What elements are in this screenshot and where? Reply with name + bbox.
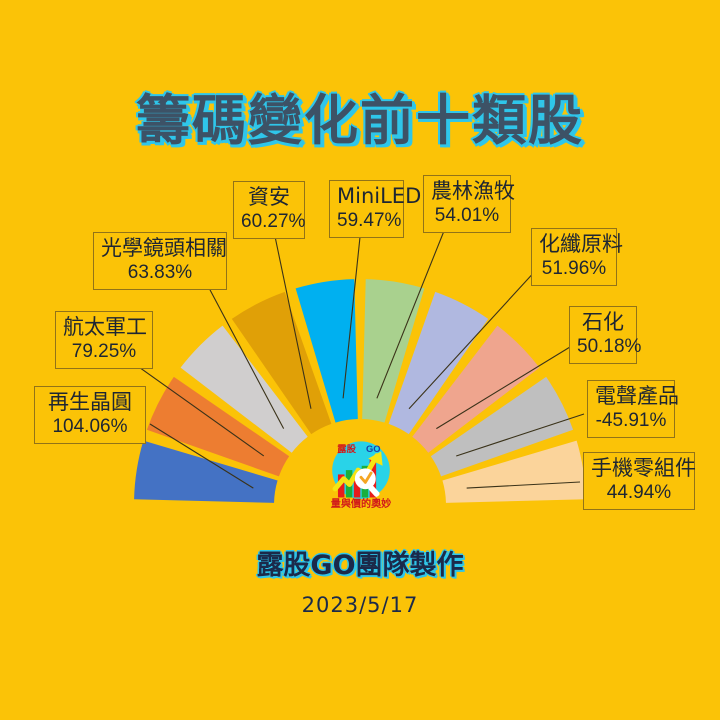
- callout-name-1: 航太軍工: [63, 315, 145, 340]
- callout-name-8: 電聲產品: [595, 384, 667, 409]
- logo-brand-cn: 露股: [337, 444, 356, 455]
- callout-value-2: 63.83%: [101, 262, 219, 284]
- callout-label-8[interactable]: 電聲產品 -45.91%: [587, 380, 675, 438]
- credit-text: 露股GO團隊製作: [0, 543, 720, 582]
- infographic-canvas: 籌碼變化前十類股 露股 GO 量與價的奧妙 再生晶圓 104.06% 航太軍工 …: [0, 0, 720, 720]
- callout-value-1: 79.25%: [63, 341, 145, 363]
- callout-label-6[interactable]: 化纖原料 51.96%: [531, 228, 617, 286]
- callout-value-3: 60.27%: [241, 211, 297, 233]
- callout-label-9[interactable]: 手機零組件 44.94%: [583, 452, 695, 510]
- brand-logo: 露股 GO 量與價的奧妙: [325, 437, 397, 509]
- date-stamp: 2023/5/17: [0, 593, 720, 617]
- callout-value-9: 44.94%: [591, 482, 687, 504]
- callout-name-7: 石化: [577, 310, 629, 335]
- callout-value-7: 50.18%: [577, 336, 629, 358]
- callout-value-5: 54.01%: [431, 205, 503, 227]
- callout-value-4: 59.47%: [337, 210, 396, 232]
- callout-name-9: 手機零組件: [591, 456, 687, 481]
- callout-label-2[interactable]: 光學鏡頭相關 63.83%: [93, 232, 227, 290]
- callout-name-3: 資安: [241, 185, 297, 210]
- logo-brand-go: GO: [366, 444, 381, 454]
- callout-name-5: 農林漁牧: [431, 179, 503, 204]
- callout-label-4[interactable]: MiniLED 59.47%: [329, 180, 404, 238]
- callout-name-6: 化纖原料: [539, 232, 609, 257]
- callout-label-7[interactable]: 石化 50.18%: [569, 306, 637, 364]
- callout-name-0: 再生晶圓: [42, 390, 138, 415]
- callout-value-6: 51.96%: [539, 258, 609, 280]
- callout-name-2: 光學鏡頭相關: [101, 236, 219, 261]
- callout-label-0[interactable]: 再生晶圓 104.06%: [34, 386, 146, 444]
- callout-name-4: MiniLED: [337, 184, 396, 209]
- callout-label-5[interactable]: 農林漁牧 54.01%: [423, 175, 511, 233]
- callout-value-0: 104.06%: [42, 416, 138, 438]
- logo-tagline: 量與價的奧妙: [331, 497, 391, 509]
- callout-value-8: -45.91%: [595, 410, 667, 432]
- callout-label-3[interactable]: 資安 60.27%: [233, 181, 305, 239]
- callout-label-1[interactable]: 航太軍工 79.25%: [55, 311, 153, 369]
